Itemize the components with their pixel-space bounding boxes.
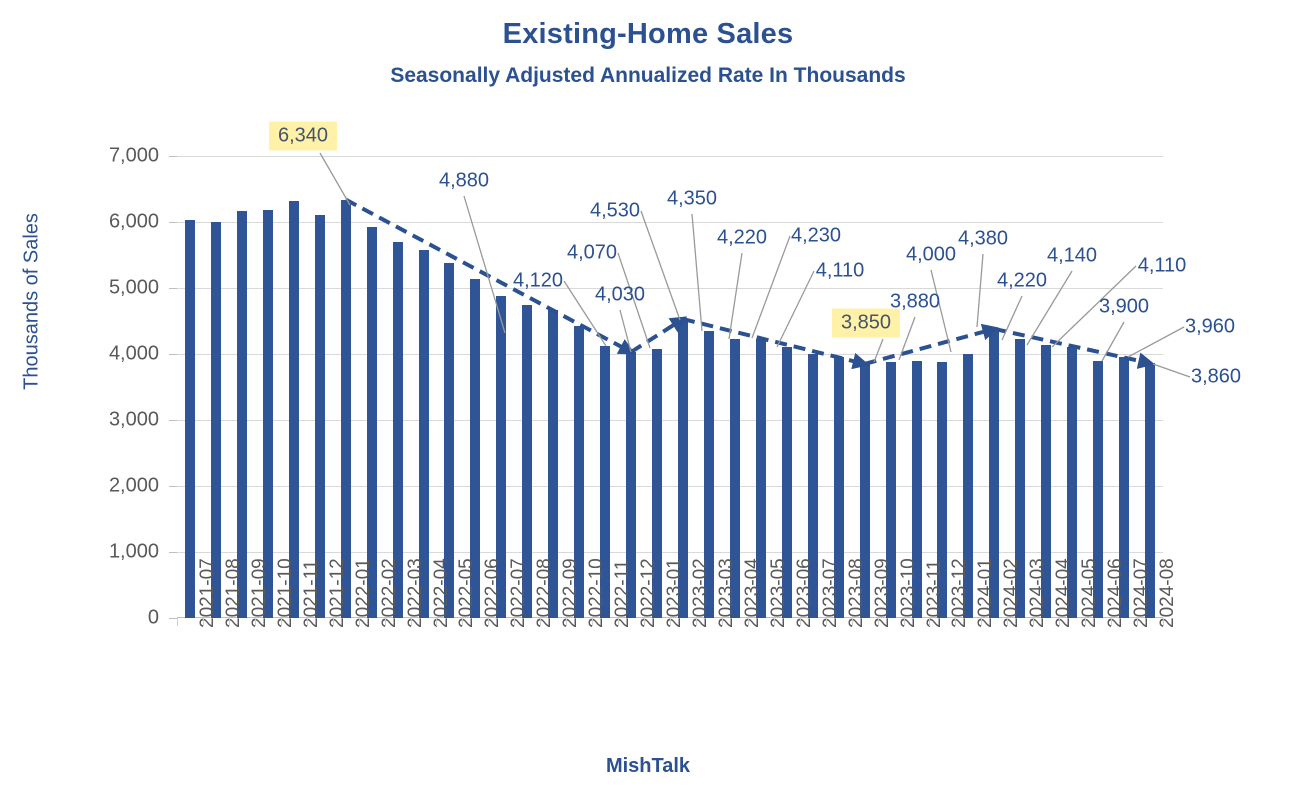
x-axis-tick-label: 2023-08 <box>846 558 868 628</box>
x-tick-mark <box>904 618 905 626</box>
y-tick-mark <box>169 288 177 289</box>
x-tick-mark <box>644 618 645 626</box>
x-axis-tick-label: 2024-07 <box>1131 558 1153 628</box>
x-tick-mark <box>1059 618 1060 626</box>
y-axis-tick-label: 4,000 <box>39 343 159 366</box>
gridline <box>177 156 1163 157</box>
bar[interactable] <box>237 211 247 618</box>
x-tick-mark <box>255 618 256 626</box>
x-axis-tick-label: 2021-12 <box>327 558 349 628</box>
x-axis-tick-label: 2023-06 <box>794 558 816 628</box>
x-axis-tick-label: 2022-01 <box>353 558 375 628</box>
y-tick-mark <box>169 552 177 553</box>
x-axis-tick-label: 2022-02 <box>379 558 401 628</box>
y-axis-tick-label: 7,000 <box>39 145 159 168</box>
bar[interactable] <box>315 215 325 618</box>
x-tick-mark <box>800 618 801 626</box>
x-tick-mark <box>670 618 671 626</box>
data-callout: 4,350 <box>667 188 717 211</box>
y-tick-mark <box>169 354 177 355</box>
x-axis-tick-label: 2023-03 <box>716 558 738 628</box>
x-tick-mark <box>462 618 463 626</box>
x-tick-mark <box>1033 618 1034 626</box>
x-tick-mark <box>1163 618 1164 626</box>
x-tick-mark <box>722 618 723 626</box>
data-callout: 4,030 <box>595 284 645 307</box>
x-axis-tick-label: 2021-08 <box>223 558 245 628</box>
x-axis-tick-label: 2023-09 <box>872 558 894 628</box>
x-tick-mark <box>359 618 360 626</box>
x-axis-tick-label: 2023-01 <box>664 558 686 628</box>
y-axis-tick-label: 1,000 <box>39 541 159 564</box>
y-axis-tick-label: 5,000 <box>39 277 159 300</box>
x-tick-mark <box>229 618 230 626</box>
x-tick-mark <box>929 618 930 626</box>
x-axis-tick-label: 2022-05 <box>456 558 478 628</box>
x-axis-tick-label: 2022-09 <box>560 558 582 628</box>
data-callout-highlighted: 6,340 <box>269 122 337 151</box>
x-tick-mark <box>852 618 853 626</box>
x-tick-mark <box>696 618 697 626</box>
x-axis-tick-label: 2022-08 <box>534 558 556 628</box>
x-tick-mark <box>1007 618 1008 626</box>
y-axis-tick-label: 3,000 <box>39 409 159 432</box>
x-tick-mark <box>436 618 437 626</box>
x-tick-mark <box>981 618 982 626</box>
data-callout: 4,230 <box>791 225 841 248</box>
x-axis-tick-label: 2022-12 <box>638 558 660 628</box>
x-axis-tick-label: 2022-11 <box>612 560 634 628</box>
y-axis-tick-label: 0 <box>39 607 159 630</box>
bar[interactable] <box>185 220 195 618</box>
x-tick-mark <box>177 618 178 626</box>
x-tick-mark <box>385 618 386 626</box>
x-axis-tick-label: 2021-07 <box>197 558 219 628</box>
data-callout: 4,220 <box>997 270 1047 293</box>
x-tick-mark <box>333 618 334 626</box>
x-axis-tick-label: 2021-11 <box>301 560 323 628</box>
x-axis-tick-label: 2023-12 <box>949 558 971 628</box>
plot-area <box>177 156 1163 618</box>
x-axis-tick-label: 2024-02 <box>1001 558 1023 628</box>
x-axis-tick-label: 2023-04 <box>742 558 764 628</box>
source-watermark: MishTalk <box>0 755 1296 778</box>
x-axis-tick-label: 2022-07 <box>508 558 530 628</box>
data-callout: 4,880 <box>439 170 489 193</box>
x-tick-mark <box>203 618 204 626</box>
y-tick-mark <box>169 486 177 487</box>
data-callout: 3,960 <box>1185 316 1235 339</box>
x-tick-mark <box>955 618 956 626</box>
chart-title: Existing-Home Sales <box>0 18 1296 51</box>
x-axis-tick-label: 2024-08 <box>1157 558 1179 628</box>
x-axis-tick-label: 2024-03 <box>1027 558 1049 628</box>
x-axis-tick-label: 2023-02 <box>690 558 712 628</box>
x-tick-mark <box>826 618 827 626</box>
x-tick-mark <box>592 618 593 626</box>
x-tick-mark <box>618 618 619 626</box>
x-tick-mark <box>1111 618 1112 626</box>
y-tick-mark <box>169 420 177 421</box>
data-callout: 4,110 <box>816 260 865 283</box>
x-axis-tick-label: 2022-06 <box>482 558 504 628</box>
x-axis-tick-label: 2024-04 <box>1053 558 1075 628</box>
y-tick-mark <box>169 156 177 157</box>
x-tick-mark <box>878 618 879 626</box>
data-callout: 3,880 <box>890 291 940 314</box>
y-tick-mark <box>169 618 177 619</box>
x-axis-tick-label: 2023-11 <box>924 560 946 628</box>
x-tick-mark <box>540 618 541 626</box>
bar[interactable] <box>341 200 351 618</box>
data-callout: 3,900 <box>1099 296 1149 319</box>
bar[interactable] <box>289 201 299 618</box>
gridline <box>177 222 1163 223</box>
x-axis-tick-label: 2021-10 <box>275 558 297 628</box>
x-tick-mark <box>514 618 515 626</box>
x-axis-tick-label: 2023-05 <box>768 558 790 628</box>
x-tick-mark <box>281 618 282 626</box>
chart-container: Existing-Home Sales Seasonally Adjusted … <box>0 0 1296 809</box>
y-axis-tick-label: 2,000 <box>39 475 159 498</box>
x-axis-tick-label: 2023-10 <box>898 558 920 628</box>
data-callout: 4,070 <box>567 242 617 265</box>
y-tick-mark <box>169 222 177 223</box>
bar[interactable] <box>263 210 273 618</box>
data-callout: 4,220 <box>717 227 767 250</box>
x-tick-mark <box>774 618 775 626</box>
data-callout: 4,380 <box>958 228 1008 251</box>
data-callout: 4,120 <box>513 270 563 293</box>
x-tick-mark <box>488 618 489 626</box>
data-callout: 4,530 <box>590 200 640 223</box>
x-axis-tick-label: 2024-06 <box>1105 558 1127 628</box>
x-axis-tick-label: 2021-09 <box>249 558 271 628</box>
x-tick-mark <box>566 618 567 626</box>
chart-subtitle: Seasonally Adjusted Annualized Rate In T… <box>0 64 1296 88</box>
data-callout: 3,860 <box>1191 366 1241 389</box>
x-tick-mark <box>411 618 412 626</box>
data-callout: 4,140 <box>1047 245 1097 268</box>
x-axis-tick-label: 2024-05 <box>1079 558 1101 628</box>
x-axis-tick-label: 2024-01 <box>975 558 997 628</box>
x-tick-mark <box>307 618 308 626</box>
data-callout: 4,110 <box>1138 255 1187 278</box>
x-tick-mark <box>748 618 749 626</box>
x-tick-mark <box>1085 618 1086 626</box>
x-axis-tick-label: 2022-03 <box>405 558 427 628</box>
y-axis-tick-label: 6,000 <box>39 211 159 234</box>
data-callout: 4,000 <box>906 244 956 267</box>
x-axis-tick-label: 2022-04 <box>431 558 453 628</box>
x-axis-tick-label: 2022-10 <box>586 558 608 628</box>
x-tick-mark <box>1137 618 1138 626</box>
x-axis-tick-label: 2023-07 <box>820 558 842 628</box>
